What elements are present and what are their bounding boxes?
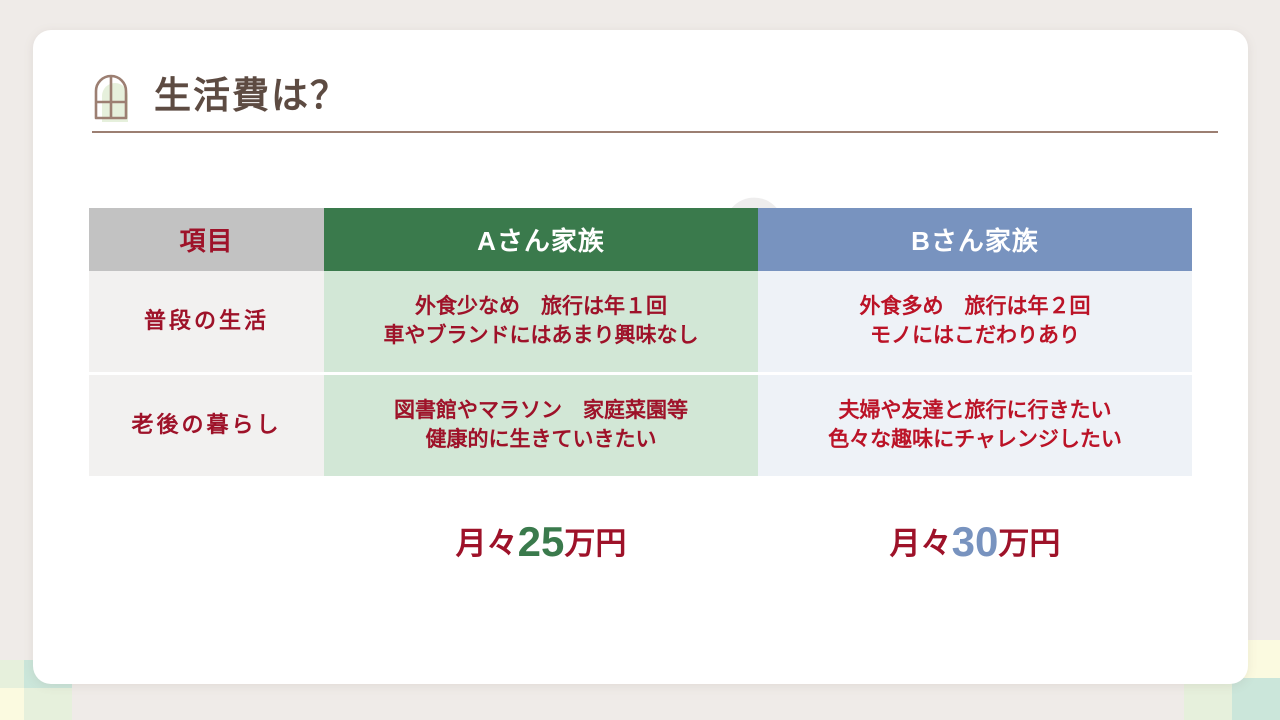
cell-line: モノにはこだわりあり <box>758 322 1192 351</box>
amount-unit: 万円 <box>564 526 626 561</box>
amount-value: 25 <box>518 518 565 565</box>
page-title: 生活費は？ <box>154 71 349 121</box>
monthly-amount-family-a: 月々25万円 <box>324 518 758 566</box>
amount-prefix: 月々 <box>890 526 952 561</box>
cell-line: 車やブランドにはあまり興味なし <box>324 322 758 351</box>
row-value-family-a: 図書館やマラソン 家庭菜園等 健康的に生きていきたい <box>324 375 758 476</box>
header-family-b: Bさん家族 <box>758 208 1192 271</box>
deco-square <box>0 660 24 688</box>
monthly-amount-family-b: 月々30万円 <box>758 518 1192 566</box>
header-item: 項目 <box>89 208 324 271</box>
table-header-row: 項目 Aさん家族 Bさん家族 <box>89 208 1192 271</box>
deco-square <box>0 688 24 720</box>
row-value-family-b: 夫婦や友達と旅行に行きたい 色々な趣味にチャレンジしたい <box>758 375 1192 476</box>
cell-line: 色々な趣味にチャレンジしたい <box>758 426 1192 455</box>
monthly-amounts: 月々25万円 月々30万円 <box>89 518 1192 588</box>
row-label: 普段の生活 <box>89 271 324 372</box>
amount-unit: 万円 <box>998 526 1060 561</box>
row-value-family-b: 外食多め 旅行は年２回 モノにはこだわりあり <box>758 271 1192 372</box>
cell-line: 図書館やマラソン 家庭菜園等 <box>324 397 758 426</box>
slide-card: サンプル 生活費は？ 項目 Aさん家族 Bさん家族 普段の生活 <box>33 30 1248 684</box>
header-family-a: Aさん家族 <box>324 208 758 271</box>
deco-square <box>24 688 72 720</box>
cell-line: 夫婦や友達と旅行に行きたい <box>758 397 1192 426</box>
deco-square <box>1232 678 1280 720</box>
row-value-family-a: 外食少なめ 旅行は年１回 車やブランドにはあまり興味なし <box>324 271 758 372</box>
deco-square <box>1184 678 1232 720</box>
amount-value: 30 <box>952 518 999 565</box>
cell-line: 外食少なめ 旅行は年１回 <box>324 293 758 322</box>
arched-window-icon <box>92 70 138 126</box>
table-row: 老後の暮らし 図書館やマラソン 家庭菜園等 健康的に生きていきたい 夫婦や友達と… <box>89 375 1192 476</box>
amount-prefix: 月々 <box>456 526 518 561</box>
comparison-table: 項目 Aさん家族 Bさん家族 普段の生活 外食少なめ 旅行は年１回 車やブランド… <box>89 208 1192 476</box>
slide-title-block: 生活費は？ <box>62 70 1188 132</box>
row-label: 老後の暮らし <box>89 375 324 476</box>
cell-line: 外食多め 旅行は年２回 <box>758 293 1192 322</box>
cell-line: 健康的に生きていきたい <box>324 426 758 455</box>
table-row: 普段の生活 外食少なめ 旅行は年１回 車やブランドにはあまり興味なし 外食多め … <box>89 271 1192 372</box>
title-underline <box>92 131 1218 133</box>
